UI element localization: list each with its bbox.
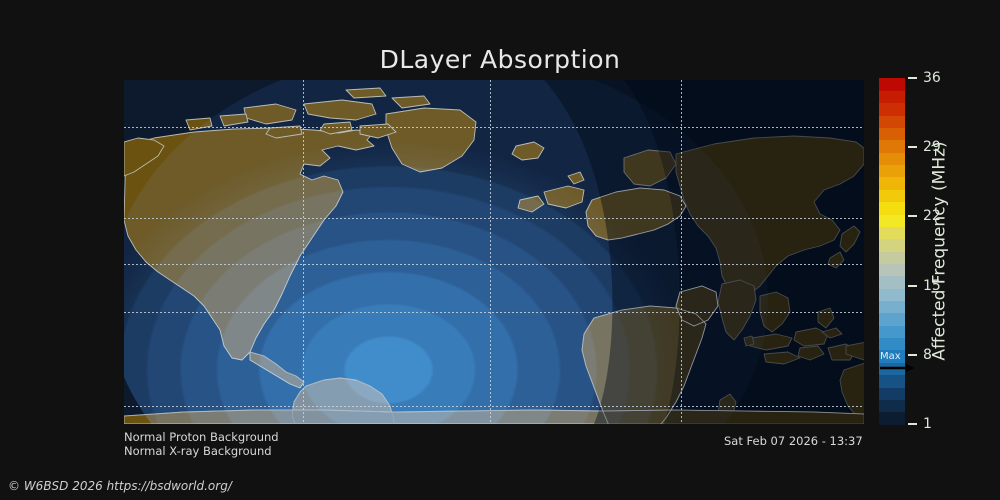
colorbar-segment [879,214,905,227]
colorbar-axis-label-text: Affected Frequency (MHz) [930,141,950,360]
colorbar-tick-mark [908,77,917,79]
colorbar-segment [879,202,905,215]
colorbar-segment [879,399,905,412]
colorbar-segment [879,276,905,289]
colorbar-segment [879,387,905,400]
map-canvas [124,80,864,424]
colorbar-tick-mark [908,215,917,217]
colorbar-segment [879,90,905,103]
colorbar-tick-mark [908,146,917,148]
dlayer-absorption-screen: DLayer Absorption [0,0,1000,500]
colorbar-segment [879,177,905,190]
colorbar-max-marker: Max [879,351,919,375]
xray-background-status: Normal X-ray Background [124,444,272,459]
colorbar-segment [879,375,905,388]
colorbar-segment [879,288,905,301]
proton-background-status: Normal Proton Background [124,430,279,445]
colorbar-segment [879,78,905,91]
colorbar-segment [879,412,905,425]
colorbar-segment [879,325,905,338]
colorbar-segment [879,226,905,239]
copyright-notice: © W6BSD 2026 https://bsdworld.org/ [8,479,232,493]
colorbar-tick-mark [908,285,917,287]
colorbar-segment [879,152,905,165]
colorbar-segment [879,239,905,252]
colorbar-axis-label: Affected Frequency (MHz) [925,78,955,424]
colorbar-segment [879,115,905,128]
colorbar-segment [879,127,905,140]
colorbar-segment [879,263,905,276]
page-title: DLayer Absorption [0,45,1000,74]
colorbar-segment [879,103,905,116]
timestamp: Sat Feb 07 2026 - 13:37 [724,434,863,448]
colorbar-segment [879,251,905,264]
colorbar-segment [879,140,905,153]
colorbar-segment [879,338,905,351]
colorbar-tick-mark [908,423,917,425]
colorbar-segment [879,189,905,202]
world-map[interactable] [124,80,864,424]
max-arrow-icon [880,364,914,372]
max-marker-label: Max [880,351,901,362]
colorbar-segment [879,300,905,313]
colorbar-segment [879,165,905,178]
colorbar-segment [879,313,905,326]
